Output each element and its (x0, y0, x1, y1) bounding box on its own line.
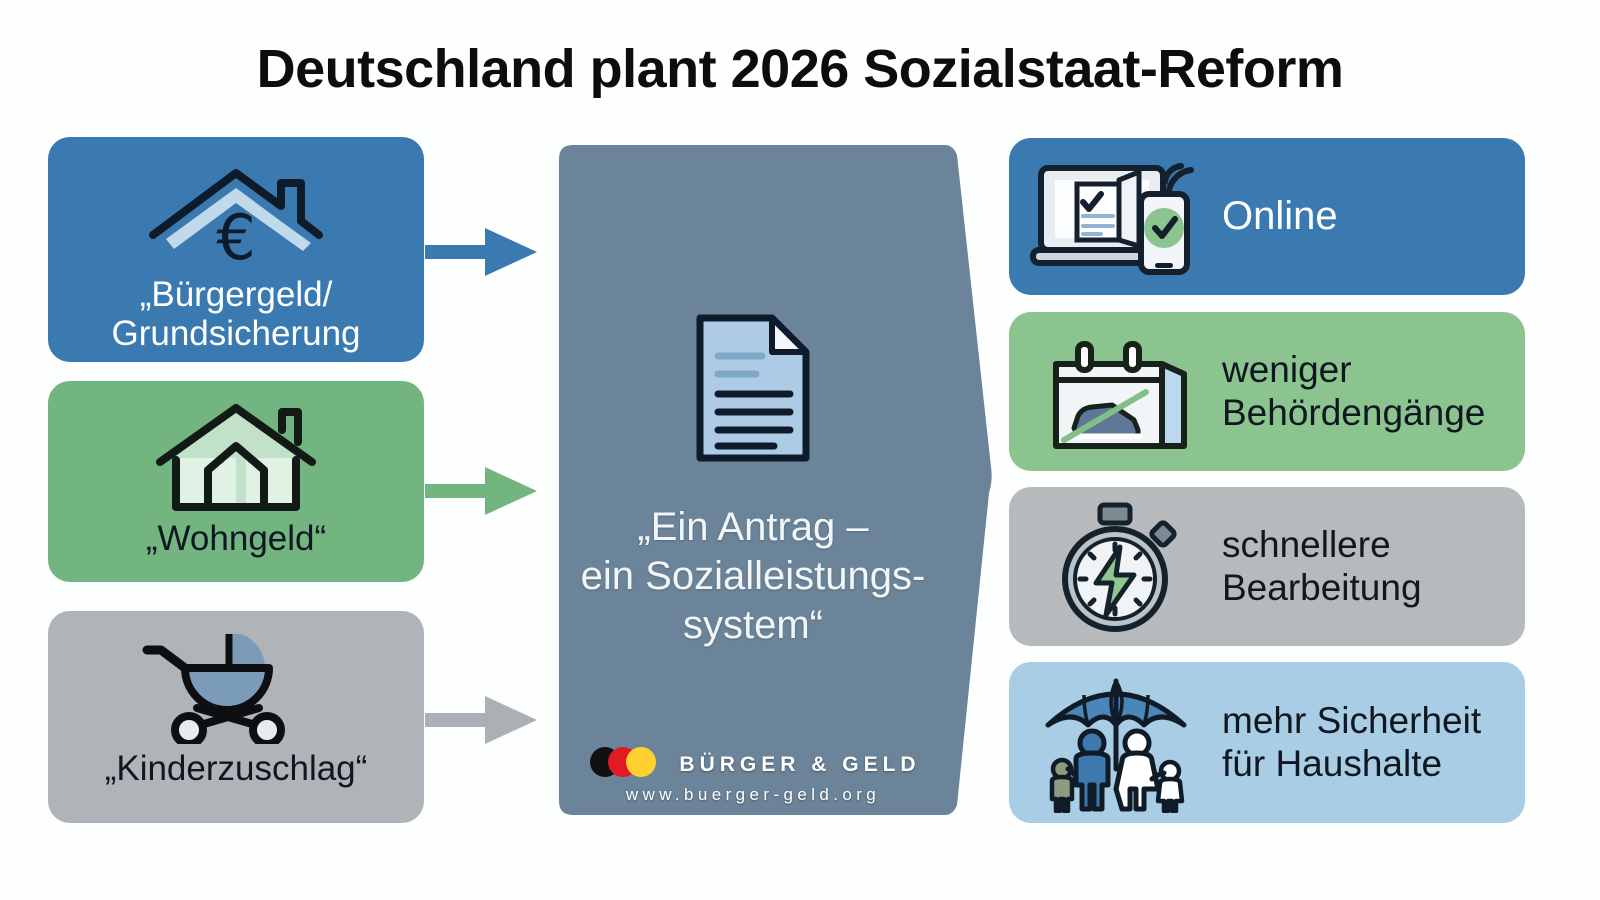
baby-stroller-icon (141, 633, 331, 745)
laptop-phone-online-icon (1029, 154, 1204, 279)
benefit-card-schnellere-bearbeitung[interactable]: schnellere Bearbeitung (1009, 487, 1525, 646)
benefit-card-weniger-behoerdengaenge[interactable]: weniger Behördengänge (1009, 312, 1525, 471)
benefit-card-mehr-sicherheit[interactable]: mehr Sicherheit für Haushalte (1009, 662, 1525, 823)
family-umbrella-icon (1029, 673, 1204, 813)
document-application-icon (692, 312, 814, 469)
calendar-no-walking-icon (1029, 328, 1204, 456)
center-panel: „Ein Antrag – ein Sozialleistungs- syste… (553, 137, 993, 823)
infographic-canvas: Deutschland plant 2026 Sozialstaat-Refor… (0, 0, 1600, 900)
brand-block: BÜRGER & GELD www.buerger-geld.org (553, 746, 953, 805)
stopwatch-bolt-icon (1029, 499, 1204, 635)
german-flag-dots-logo (585, 746, 665, 783)
center-panel-label: „Ein Antrag – ein Sozialleistungs- syste… (558, 503, 948, 649)
input-card-label: „Kinderzuschlag“ (95, 749, 378, 788)
arrow-right-gray-icon (425, 690, 540, 750)
benefit-card-label: Online (1222, 194, 1338, 240)
arrow-right-blue-icon (425, 222, 540, 282)
benefit-card-label: weniger Behördengänge (1222, 349, 1485, 433)
brand-url[interactable]: www.buerger-geld.org (626, 785, 880, 805)
input-card-kinderzuschlag[interactable]: „Kinderzuschlag“ (48, 611, 424, 823)
benefit-card-label: schnellere Bearbeitung (1222, 524, 1422, 608)
benefit-card-label: mehr Sicherheit für Haushalte (1222, 700, 1481, 784)
arrow-right-green-icon (425, 461, 540, 521)
input-card-label: „Bürgergeld/ Grundsicherung (101, 275, 370, 353)
svg-text:€: € (216, 201, 255, 269)
house-euro-icon: € (131, 159, 341, 271)
benefit-card-online[interactable]: Online (1009, 138, 1525, 295)
page-title: Deutschland plant 2026 Sozialstaat-Refor… (0, 38, 1600, 100)
house-home-icon (146, 403, 326, 515)
input-card-wohngeld[interactable]: „Wohngeld“ (48, 381, 424, 582)
input-card-buergergeld[interactable]: € „Bürgergeld/ Grundsicherung (48, 137, 424, 362)
brand-name: BÜRGER & GELD (679, 753, 920, 777)
input-card-label: „Wohngeld“ (136, 519, 336, 558)
